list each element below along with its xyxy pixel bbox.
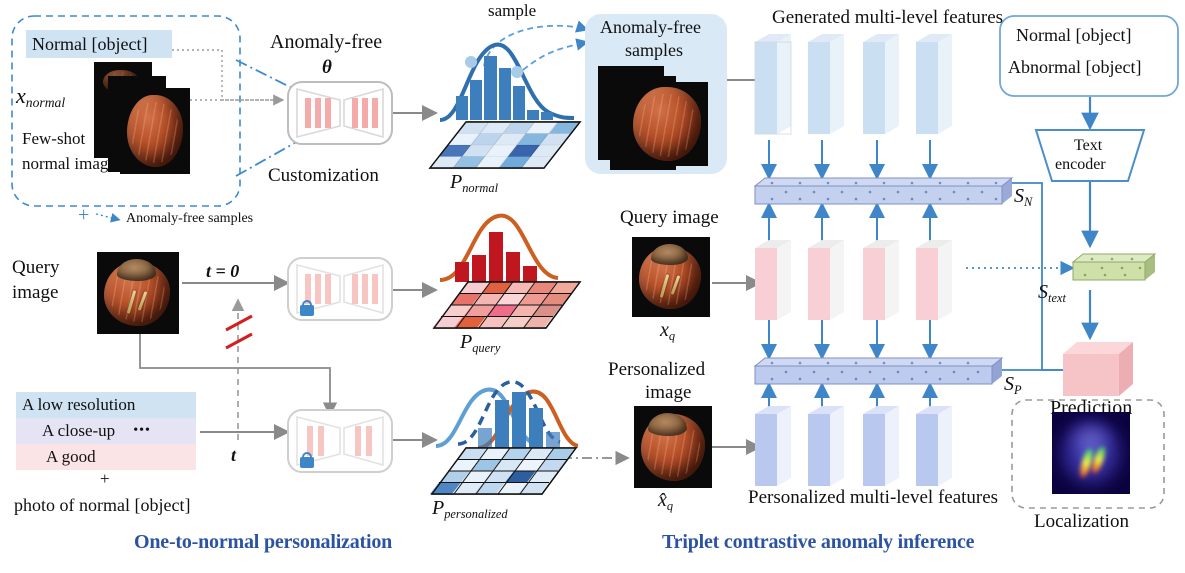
caption-left: One-to-normal personalization xyxy=(134,532,392,553)
text-prompt-normal: Normal [object] xyxy=(1016,26,1131,45)
score-text-label: Stext xyxy=(1038,282,1066,303)
text-prompt-abnormal: Abnormal [object] xyxy=(1008,58,1141,77)
localization-heatmap xyxy=(1052,412,1130,494)
xq-variable-label: xq xyxy=(660,320,675,341)
query-image-right-thumbnail xyxy=(632,237,710,317)
text-encoder-label-2: encoder xyxy=(1055,157,1106,174)
query-image-right-label: Query image xyxy=(620,208,719,228)
personalized-feature-slabs xyxy=(755,406,952,486)
score-normal-label: SN xyxy=(1014,186,1032,207)
score-bar-personalized xyxy=(755,358,1002,384)
generated-feature-slabs xyxy=(755,34,952,134)
score-bar-normal xyxy=(755,178,1012,204)
score-bar-text xyxy=(1073,254,1155,280)
feature-slabs-layer xyxy=(0,0,1185,573)
personalized-features-label: Personalized multi-level features xyxy=(748,488,998,508)
caption-right: Triplet contrastive anomaly inference xyxy=(662,532,974,553)
xq-hat-variable-label: x̂q xyxy=(658,490,673,511)
query-feature-slabs xyxy=(755,240,952,320)
personalized-image-label-2: image xyxy=(645,383,691,403)
personalized-image-thumbnail xyxy=(634,406,712,488)
localization-label: Localization xyxy=(1034,512,1129,532)
prediction-cube xyxy=(1063,342,1133,396)
personalized-image-label-1: Personalized xyxy=(608,360,705,380)
score-personalized-label: SP xyxy=(1004,374,1022,395)
figure-canvas: Normal [object] xnormal Few-shot normal … xyxy=(0,0,1185,573)
text-encoder-label-1: Text xyxy=(1074,138,1102,155)
